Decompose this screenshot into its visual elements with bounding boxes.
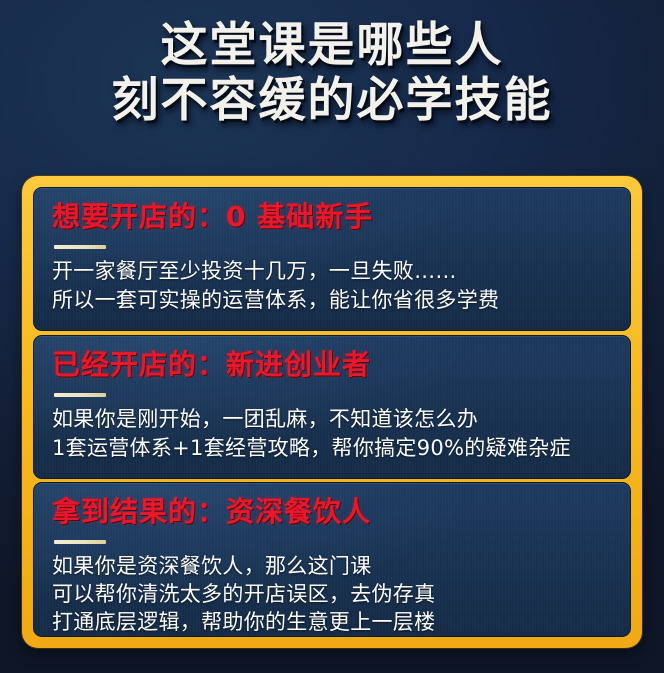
card-heading: 拿到结果的：资深餐饮人 bbox=[52, 493, 612, 531]
audience-card-veteran: 拿到结果的：资深餐饮人 如果你是资深餐饮人，那么这门课 可以帮你清洗太多的开店误… bbox=[33, 482, 631, 637]
card-heading: 已经开店的：新进创业者 bbox=[52, 346, 612, 384]
card-body-line: 可以帮你清洗太多的开店误区，去伪存真 bbox=[52, 580, 612, 608]
card-divider bbox=[54, 245, 106, 249]
card-body: 开一家餐厅至少投资十几万，一旦失败…… 所以一套可实操的运营体系，能让你省很多学… bbox=[52, 257, 612, 315]
card-body: 如果你是刚开始，一团乱麻，不知道该怎么办 1套运营体系+1套经营攻略，帮你搞定9… bbox=[52, 405, 612, 463]
title-line-2: 刻不容缓的必学技能 bbox=[0, 73, 664, 128]
card-divider bbox=[54, 540, 106, 544]
card-divider bbox=[54, 393, 106, 397]
promo-poster: 这堂课是哪些人 刻不容缓的必学技能 想要开店的：0 基础新手 开一家餐厅至少投资… bbox=[0, 0, 664, 673]
title-line-1: 这堂课是哪些人 bbox=[0, 18, 664, 73]
card-body-line: 如果你是资深餐饮人，那么这门课 bbox=[52, 552, 612, 580]
card-body-line: 如果你是刚开始，一团乱麻，不知道该怎么办 bbox=[52, 405, 612, 434]
page-title: 这堂课是哪些人 刻不容缓的必学技能 bbox=[0, 18, 664, 128]
audience-card-new-entrepreneur: 已经开店的：新进创业者 如果你是刚开始，一团乱麻，不知道该怎么办 1套运营体系+… bbox=[33, 335, 631, 479]
audience-cards-frame: 想要开店的：0 基础新手 开一家餐厅至少投资十几万，一旦失败…… 所以一套可实操… bbox=[22, 176, 642, 648]
card-body-line: 1套运营体系+1套经营攻略，帮你搞定90%的疑难杂症 bbox=[52, 434, 612, 463]
card-body-line: 所以一套可实操的运营体系，能让你省很多学费 bbox=[52, 286, 612, 315]
card-body-line: 开一家餐厅至少投资十几万，一旦失败…… bbox=[52, 257, 612, 286]
card-heading: 想要开店的：0 基础新手 bbox=[52, 198, 612, 236]
audience-card-beginner: 想要开店的：0 基础新手 开一家餐厅至少投资十几万，一旦失败…… 所以一套可实操… bbox=[33, 187, 631, 331]
card-body: 如果你是资深餐饮人，那么这门课 可以帮你清洗太多的开店误区，去伪存真 打通底层逻… bbox=[52, 552, 612, 636]
card-body-line: 打通底层逻辑，帮助你的生意更上一层楼 bbox=[52, 608, 612, 636]
